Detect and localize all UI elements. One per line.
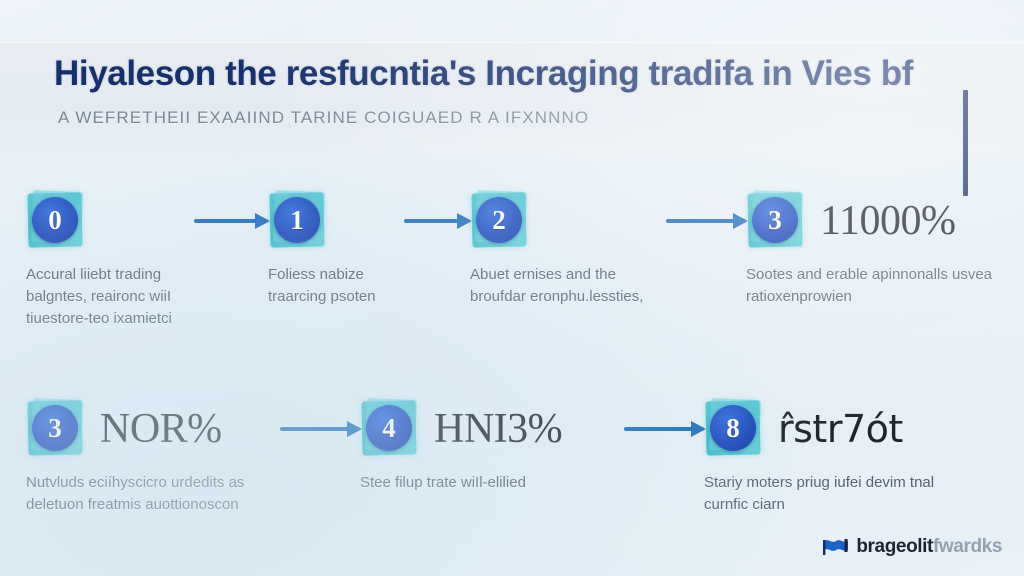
step-badge-icon: 4 (360, 399, 420, 459)
page-title: Hiyaleson the resfucntia's Incraging tra… (54, 54, 954, 94)
arrow-shaft-shape (666, 219, 746, 223)
arrow-shaft-shape (280, 427, 360, 431)
step-row-two: 3 NOR% Nutvluds eciíhyscicro urdedits as… (0, 398, 1024, 516)
badge-number: 1 (274, 197, 320, 243)
step-badge-icon: 2 (470, 191, 530, 251)
page-subtitle: A WEFRETHEII EXAAIIND TARINE COIGUAED R … (58, 108, 958, 128)
connector-arrow-icon (404, 190, 470, 252)
badge-number: 4 (366, 405, 412, 451)
step-item: 8 r̂str7ót Stariy moters priug iufei dev… (704, 398, 954, 516)
step-badge-icon: 3 (746, 191, 806, 251)
badge-number: 0 (32, 197, 78, 243)
step-badge-icon: 3 (26, 399, 86, 459)
step-caption: Foliess nabize traarcing psoten (268, 264, 404, 308)
step-item: 2 Abuet ernises and the broufdar eronphu… (470, 190, 666, 308)
step-badge-icon: 1 (268, 191, 328, 251)
badge-number: 8 (710, 405, 756, 451)
arrow-shaft-shape (624, 427, 704, 431)
arrow-shaft-shape (194, 219, 268, 223)
step-caption: Stee filup trate wiIl-elilied (360, 472, 624, 494)
badge-number: 3 (32, 405, 78, 451)
connector-arrow-icon (624, 398, 704, 460)
step-head: 2 (470, 190, 666, 252)
step-caption: Stariy moters priug iufei devim tnal cur… (704, 472, 954, 516)
step-head: 3 NOR% (26, 398, 280, 460)
header-accent-rule (963, 90, 968, 196)
step-stat: 11000% (820, 200, 955, 242)
step-item: 0 Accural liiebt trading balgntes, reair… (26, 190, 194, 329)
step-head: 0 (26, 190, 194, 252)
step-head: 1 (268, 190, 404, 252)
step-caption: Abuet ernises and the broufdar eronphu.l… (470, 264, 666, 308)
brand-wordmark-secondary: fwardks (933, 536, 1002, 557)
badge-number: 2 (476, 197, 522, 243)
step-caption: Sootes and erable apinnonalls usvea rati… (746, 264, 996, 308)
step-badge-icon: 0 (26, 191, 86, 251)
step-stat: HNI3% (434, 408, 562, 450)
step-stat: r̂str7ót (778, 410, 903, 448)
infographic-canvas: Hiyaleson the resfucntia's Incraging tra… (0, 0, 1024, 576)
flag-mark-icon (823, 538, 849, 557)
step-head: 4 HNI3% (360, 398, 624, 460)
brand-wordmark: brageolitfwardks (856, 536, 1002, 558)
arrow-shaft-shape (404, 219, 470, 223)
step-caption: Nutvluds eciíhyscicro urdedits as deletu… (26, 472, 280, 516)
step-caption: Accural liiebt trading balgntes, reairon… (26, 264, 194, 329)
step-stat: NOR% (100, 408, 222, 450)
step-item: 3 NOR% Nutvluds eciíhyscicro urdedits as… (26, 398, 280, 516)
brand-logo: brageolitfwardks (823, 536, 1002, 558)
step-item: 4 HNI3% Stee filup trate wiIl-elilied (360, 398, 624, 494)
step-item: 1 Foliess nabize traarcing psoten (268, 190, 404, 308)
step-item: 3 11000% Sootes and erable apinnonalls u… (746, 190, 996, 308)
connector-arrow-icon (666, 190, 746, 252)
brand-wordmark-primary: brageolit (856, 536, 933, 557)
step-badge-icon: 8 (704, 399, 764, 459)
connector-arrow-icon (194, 190, 268, 252)
step-head: 3 11000% (746, 190, 996, 252)
step-row-one: 0 Accural liiebt trading balgntes, reair… (0, 190, 1024, 329)
step-head: 8 r̂str7ót (704, 398, 954, 460)
badge-number: 3 (752, 197, 798, 243)
connector-arrow-icon (280, 398, 360, 460)
